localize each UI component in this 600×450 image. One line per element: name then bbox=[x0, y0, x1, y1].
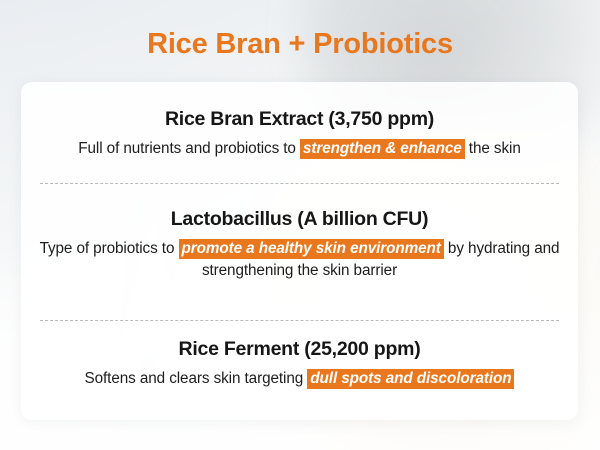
infographic-stage: Rice Bran + Probiotics Rice Bran Extract… bbox=[0, 0, 600, 450]
ingredient-section-lactobacillus: Lactobacillus (A billion CFU) Type of pr… bbox=[21, 207, 578, 282]
ingredient-card: Rice Bran Extract (3,750 ppm) Full of nu… bbox=[21, 82, 578, 420]
section-heading: Rice Ferment (25,200 ppm) bbox=[35, 337, 564, 361]
body-text: Full of nutrients and probiotics to bbox=[78, 140, 300, 157]
body-text: Type of probiotics to bbox=[40, 240, 179, 257]
ingredient-section-rice-bran-extract: Rice Bran Extract (3,750 ppm) Full of nu… bbox=[21, 107, 578, 160]
highlight-phrase: dull spots and discoloration bbox=[307, 369, 514, 389]
highlight-phrase: promote a healthy skin environment bbox=[179, 239, 444, 259]
section-heading: Rice Bran Extract (3,750 ppm) bbox=[35, 107, 564, 131]
highlight-phrase: strengthen & enhance bbox=[300, 139, 465, 159]
section-heading: Lactobacillus (A billion CFU) bbox=[35, 207, 564, 231]
section-body: Type of probiotics to promote a healthy … bbox=[35, 238, 564, 281]
section-body: Full of nutrients and probiotics to stre… bbox=[35, 138, 564, 160]
page-title: Rice Bran + Probiotics bbox=[0, 28, 600, 61]
section-body: Softens and clears skin targeting dull s… bbox=[35, 368, 564, 390]
section-divider bbox=[40, 320, 559, 321]
body-text: the skin bbox=[465, 140, 521, 157]
section-divider bbox=[40, 183, 559, 184]
ingredient-section-rice-ferment: Rice Ferment (25,200 ppm) Softens and cl… bbox=[21, 337, 578, 390]
body-text: Softens and clears skin targeting bbox=[85, 370, 308, 387]
